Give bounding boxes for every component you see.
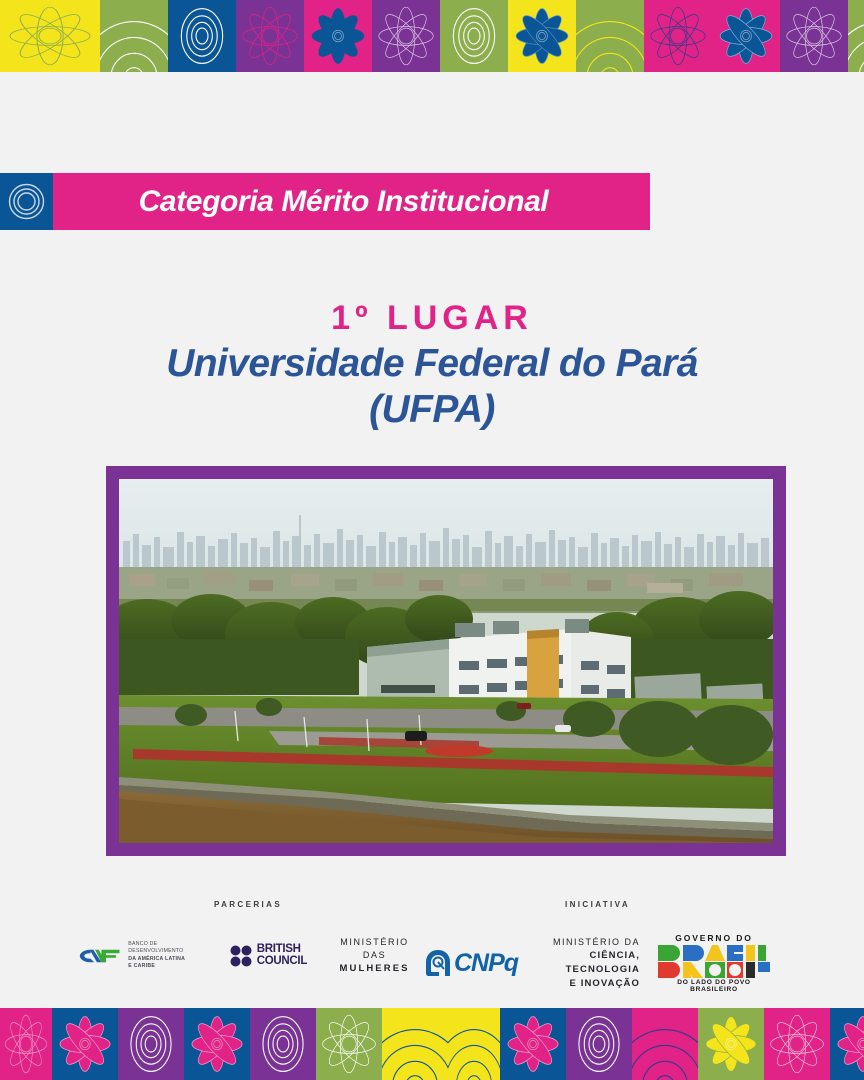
campus-photo-frame xyxy=(106,466,786,856)
category-label: Categoria Mérito Institucional xyxy=(139,185,549,219)
initiative-group: INICIATIVA CNPq MINISTÉRIO DA CIÊNCIA, T… xyxy=(425,900,770,993)
initiative-logo-row: CNPq MINISTÉRIO DA CIÊNCIA, TECNOLOGIA E… xyxy=(425,933,770,993)
partners-kicker: PARCERIAS xyxy=(78,900,418,909)
pattern-tile-flower-solid xyxy=(830,1008,864,1080)
mcti-logo: MINISTÉRIO DA CIÊNCIA, TECNOLOGIA E INOV… xyxy=(536,935,640,991)
pattern-tile-flower-solid xyxy=(712,0,780,72)
british-council-line-2: COUNCIL xyxy=(257,956,307,968)
pattern-tile-arcs xyxy=(576,0,644,72)
pattern-tile-flower-solid xyxy=(698,1008,764,1080)
pattern-tile-arcs xyxy=(382,1008,448,1080)
pattern-tile-rings xyxy=(168,0,236,72)
category-strip: Categoria Mérito Institucional xyxy=(0,173,650,230)
pattern-tile-atom-outline xyxy=(316,1008,382,1080)
headline-block: 1º LUGAR Universidade Federal do Pará (U… xyxy=(0,296,864,432)
pattern-tile-rings xyxy=(440,0,508,72)
govbr-bottom-label: DO LADO DO POVO BRASILEIRO xyxy=(658,979,770,993)
category-banner: Categoria Mérito Institucional xyxy=(53,173,650,230)
mulheres-line-1: MINISTÉRIO DAS xyxy=(331,936,418,962)
cnpq-head-icon xyxy=(425,949,451,977)
pattern-tile-rings xyxy=(566,1008,632,1080)
governo-do-brasil-logo: GOVERNO DO xyxy=(658,933,770,993)
decorative-pattern-banner-bottom xyxy=(0,1008,864,1080)
ministerio-das-mulheres-logo: MINISTÉRIO DAS MULHERES xyxy=(331,936,418,975)
govbr-top-label: GOVERNO DO xyxy=(658,933,770,943)
british-council-line-1: BRITISH xyxy=(257,944,307,956)
mcti-line-3: E INOVAÇÃO xyxy=(536,977,640,991)
partners-logo-row: BANCO DE DESENVOLVIMENTO DA AMÉRICA LATI… xyxy=(78,936,418,975)
caf-logo-icon xyxy=(78,946,121,966)
cnpq-wordmark: CNPq xyxy=(454,949,518,978)
pattern-tile-flower-solid xyxy=(500,1008,566,1080)
pattern-tile-atom-outline xyxy=(644,0,712,72)
pattern-tile-flower-solid xyxy=(508,0,576,72)
caf-line-1: BANCO DE DESENVOLVIMENTO xyxy=(128,941,205,956)
winner-name-line1: Universidade Federal do Pará xyxy=(0,340,864,386)
decorative-pattern-banner-top xyxy=(0,0,864,72)
caf-line-2: DA AMÉRICA LATINA xyxy=(128,956,205,963)
initiative-kicker: INICIATIVA xyxy=(425,900,770,909)
campus-aerial-photo xyxy=(119,479,773,843)
pattern-tile-atom-outline xyxy=(780,0,848,72)
british-council-logo: BRITISH COUNCIL xyxy=(230,944,307,967)
pattern-tile-atom-outline xyxy=(372,0,440,72)
pattern-tile-flower-solid xyxy=(304,0,372,72)
pattern-tile-flower-solid xyxy=(184,1008,250,1080)
pattern-tile-arcs xyxy=(848,0,864,72)
rank-label: 1º LUGAR xyxy=(0,296,864,340)
pattern-tile-rings xyxy=(250,1008,316,1080)
pattern-tile-flower-solid xyxy=(52,1008,118,1080)
concentric-rings-icon xyxy=(0,173,53,230)
pattern-tile-atom-outline xyxy=(0,0,100,72)
footer-logos: PARCERIAS BANCO DE DESENVOLVIMENTO DA AM… xyxy=(0,900,864,995)
cnpq-logo: CNPq xyxy=(425,949,518,978)
british-council-dots-icon xyxy=(230,945,252,967)
pattern-tile-atom-outline xyxy=(764,1008,830,1080)
caf-line-3: E CARIBE xyxy=(128,963,205,970)
caf-logo: BANCO DE DESENVOLVIMENTO DA AMÉRICA LATI… xyxy=(78,941,206,971)
pattern-tile-atom-outline xyxy=(0,1008,52,1080)
brasil-wordmark-icon xyxy=(658,945,770,978)
pattern-tile-rings xyxy=(118,1008,184,1080)
pattern-tile-arcs xyxy=(100,0,168,72)
pattern-tile-arcs xyxy=(448,1008,500,1080)
british-council-wordmark: BRITISH COUNCIL xyxy=(257,944,307,967)
mcti-line-2: CIÊNCIA, TECNOLOGIA xyxy=(536,949,640,977)
winner-name-line2: (UFPA) xyxy=(0,386,864,432)
caf-tagline: BANCO DE DESENVOLVIMENTO DA AMÉRICA LATI… xyxy=(128,941,205,971)
pattern-tile-atom-outline xyxy=(236,0,304,72)
partners-group: PARCERIAS BANCO DE DESENVOLVIMENTO DA AM… xyxy=(78,900,418,975)
pattern-tile-arcs xyxy=(632,1008,698,1080)
mulheres-line-2: MULHERES xyxy=(331,962,418,975)
mcti-line-1: MINISTÉRIO DA xyxy=(536,935,640,949)
